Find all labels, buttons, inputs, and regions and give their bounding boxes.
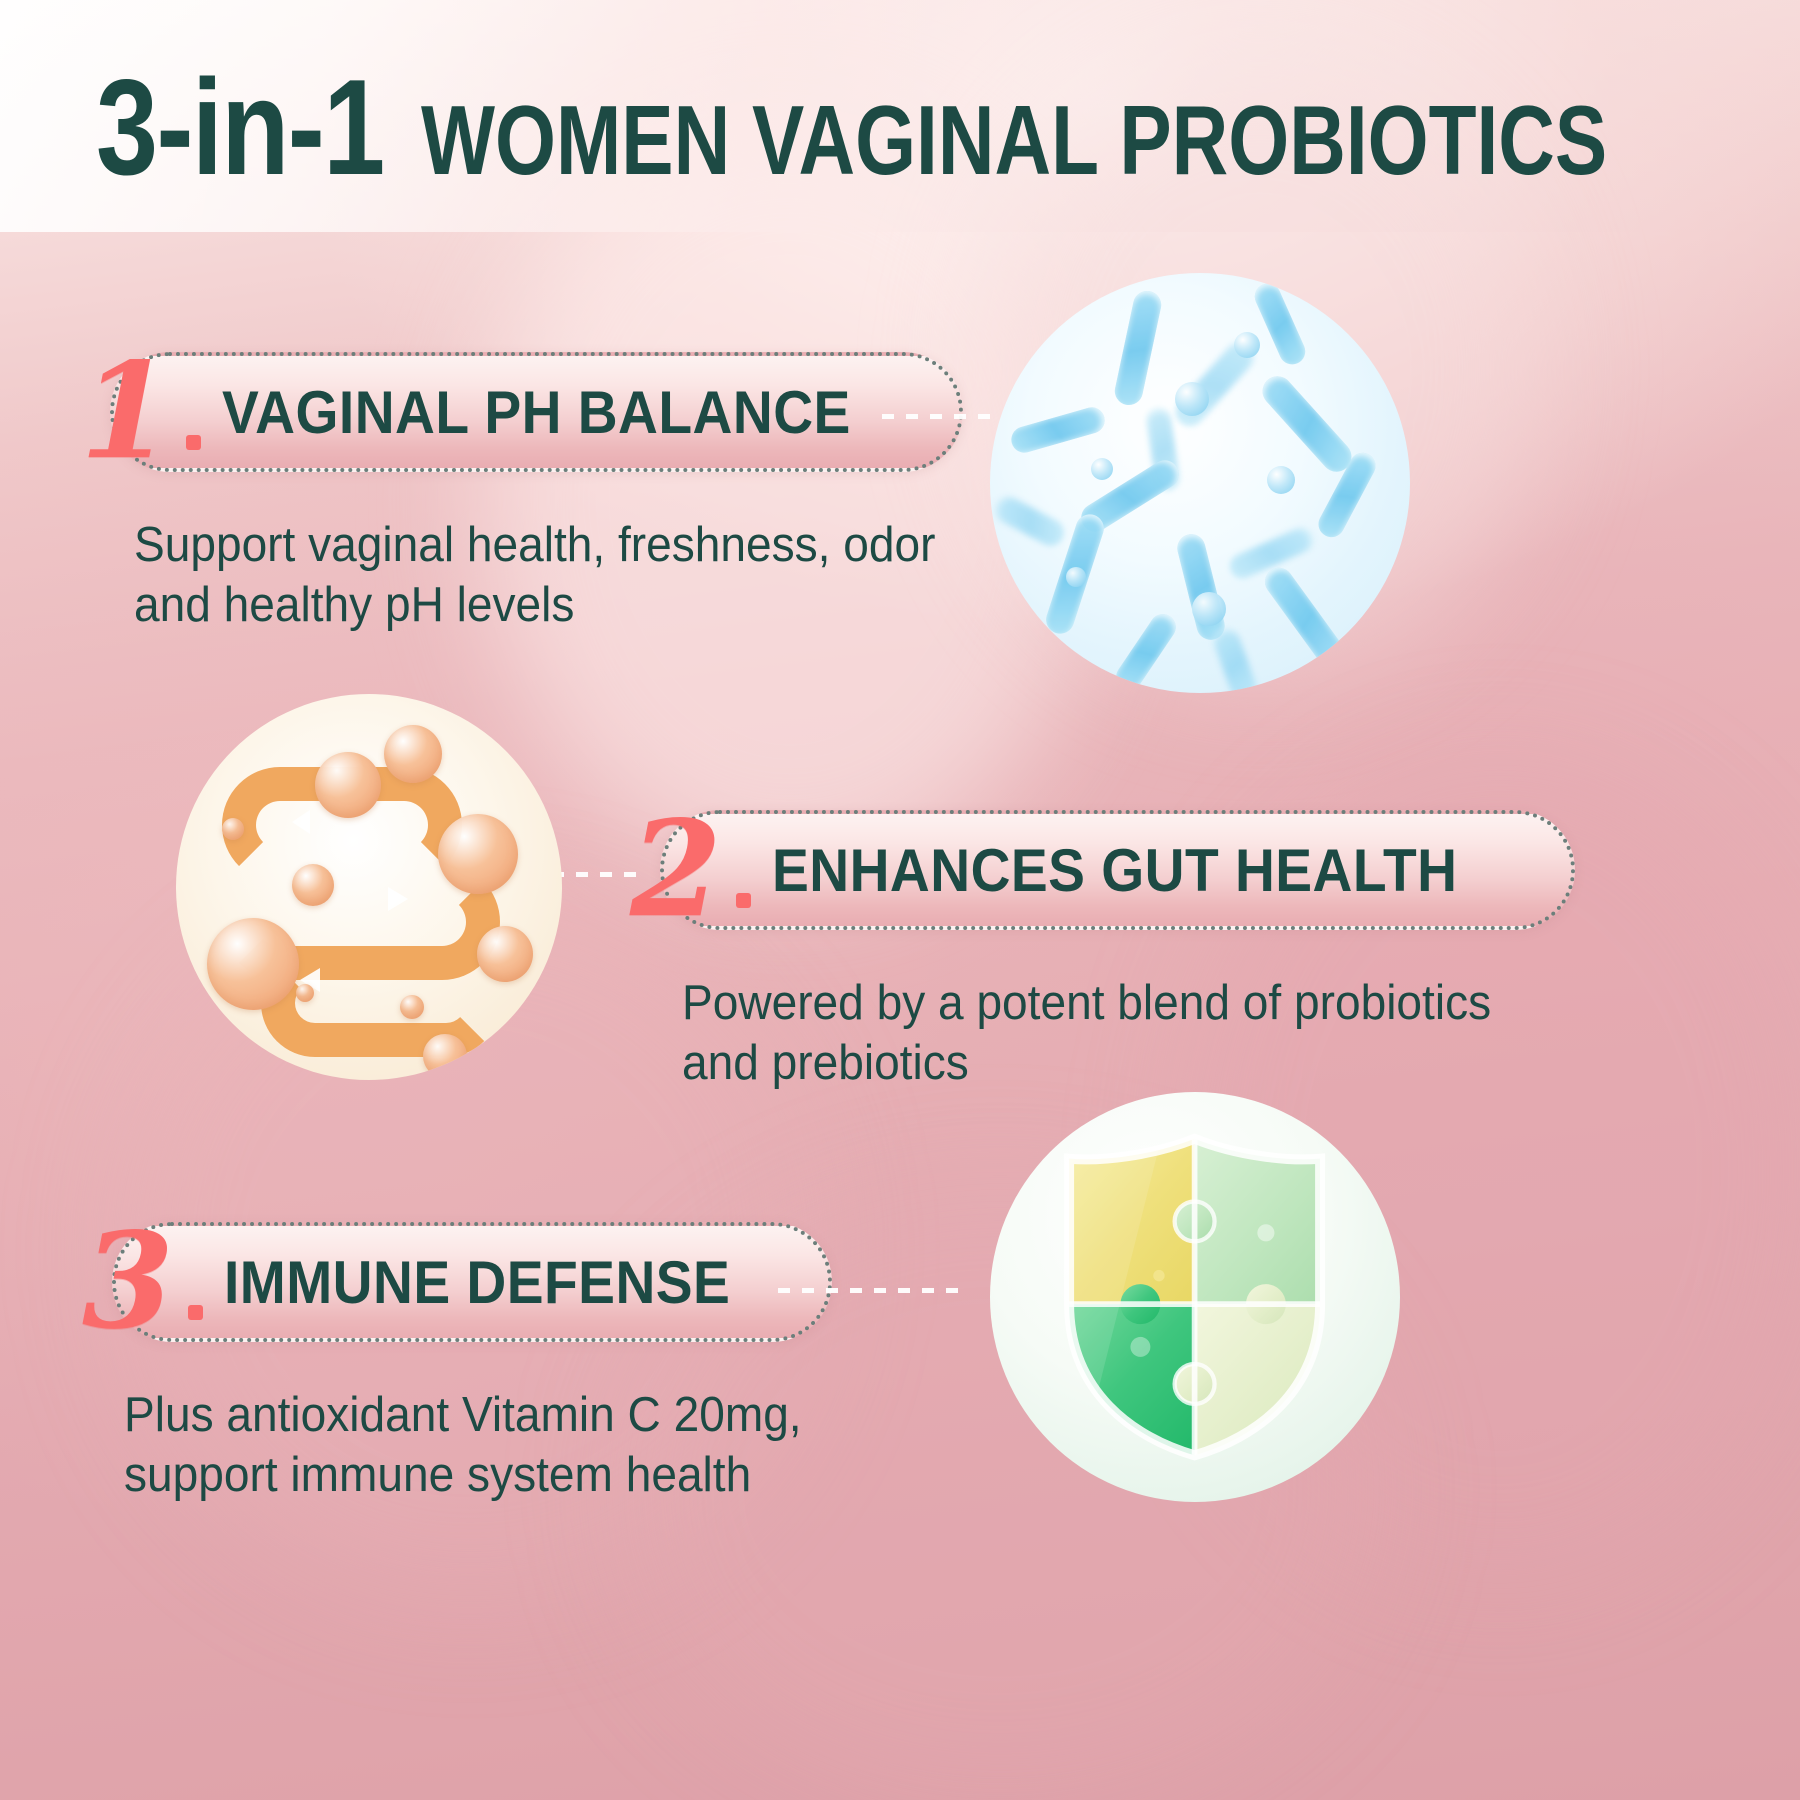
feature-block-3: 3 IMMUNE DEFENSE Plus antioxidant Vitami… xyxy=(112,1222,845,1506)
feature-number-3: 3 xyxy=(82,1216,174,1348)
shield-puzzle-circle-icon xyxy=(990,1092,1400,1502)
feature-description-2: Powered by a potent blend of probiotics … xyxy=(682,974,1521,1094)
feature-badge-1[interactable]: 1 VAGINAL PH BALANCE xyxy=(110,352,963,472)
infographic-page: 3-in-1 WOMEN VAGINAL PROBIOTICS 1 VAGINA… xyxy=(0,0,1800,1800)
feature-description-3: Plus antioxidant Vitamin C 20mg, support… xyxy=(124,1386,802,1506)
connector-line-3 xyxy=(778,1288,968,1293)
feature-heading-1: VAGINAL PH BALANCE xyxy=(222,378,851,447)
feature-heading-3: IMMUNE DEFENSE xyxy=(224,1248,730,1317)
title-highlight: 3-in-1 xyxy=(96,62,384,193)
feature-number-dot-2 xyxy=(736,893,751,908)
flow-arrow-icon xyxy=(388,887,408,911)
feature-badge-3[interactable]: 3 IMMUNE DEFENSE xyxy=(112,1222,832,1342)
feature-block-1: 1 VAGINAL PH BALANCE Support vaginal hea… xyxy=(110,352,987,636)
title-rest: WOMEN VAGINAL PROBIOTICS xyxy=(421,91,1607,189)
shield-graphic xyxy=(1047,1133,1342,1461)
feature-block-2: 2 ENHANCES GUT HEALTH Powered by a poten… xyxy=(660,810,1575,1094)
page-title: 3-in-1 WOMEN VAGINAL PROBIOTICS xyxy=(96,62,1800,193)
feature-heading-2: ENHANCES GUT HEALTH xyxy=(772,836,1457,905)
title-banner: 3-in-1 WOMEN VAGINAL PROBIOTICS xyxy=(0,0,1800,232)
flow-arrow-icon xyxy=(292,810,310,834)
feature-number-dot-1 xyxy=(186,435,201,450)
intestine-circle-icon xyxy=(176,694,562,1080)
shield-puzzle-svg xyxy=(1047,1133,1342,1461)
feature-number-1: 1 xyxy=(80,346,172,478)
feature-number-dot-3 xyxy=(188,1305,203,1320)
feature-description-1: Support vaginal health, freshness, odor … xyxy=(134,516,935,636)
feature-badge-2[interactable]: 2 ENHANCES GUT HEALTH xyxy=(660,810,1575,930)
bacteria-circle-icon xyxy=(990,273,1410,693)
feature-number-2: 2 xyxy=(630,804,722,936)
